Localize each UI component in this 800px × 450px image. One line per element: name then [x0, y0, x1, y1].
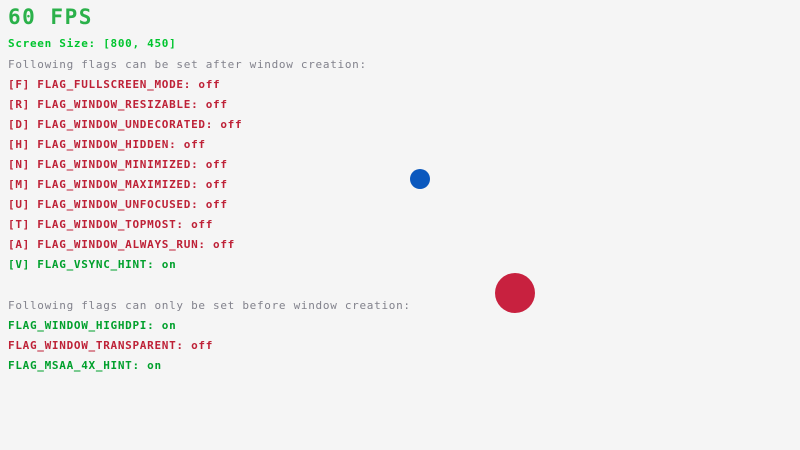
flag-row-window-maximized[interactable]: [M] FLAG_WINDOW_MAXIMIZED: off [8, 179, 228, 190]
fps-counter: 60 FPS [8, 7, 93, 28]
creation-flags-header: Following flags can only be set before w… [8, 300, 411, 311]
flag-row-window-unfocused[interactable]: [U] FLAG_WINDOW_UNFOCUSED: off [8, 199, 228, 210]
flag-row-window-resizable[interactable]: [R] FLAG_WINDOW_RESIZABLE: off [8, 99, 228, 110]
flag-row-window-highdpi: FLAG_WINDOW_HIGHDPI: on [8, 320, 176, 331]
screen-size-label: Screen Size: [800, 450] [8, 38, 176, 49]
runtime-flags-header: Following flags can be set after window … [8, 59, 367, 70]
flag-row-window-minimized[interactable]: [N] FLAG_WINDOW_MINIMIZED: off [8, 159, 228, 170]
flag-row-window-always-run[interactable]: [A] FLAG_WINDOW_ALWAYS_RUN: off [8, 239, 235, 250]
hud-overlay: 60 FPS Screen Size: [800, 450] Following… [0, 0, 800, 450]
app-window: 60 FPS Screen Size: [800, 450] Following… [0, 0, 800, 450]
flag-row-msaa-4x-hint: FLAG_MSAA_4X_HINT: on [8, 360, 162, 371]
flag-row-window-topmost[interactable]: [T] FLAG_WINDOW_TOPMOST: off [8, 219, 213, 230]
flag-row-window-undecorated[interactable]: [D] FLAG_WINDOW_UNDECORATED: off [8, 119, 242, 130]
flag-row-window-transparent: FLAG_WINDOW_TRANSPARENT: off [8, 340, 213, 351]
flag-row-fullscreen-mode[interactable]: [F] FLAG_FULLSCREEN_MODE: off [8, 79, 220, 90]
flag-row-vsync-hint[interactable]: [V] FLAG_VSYNC_HINT: on [8, 259, 176, 270]
flag-row-window-hidden[interactable]: [H] FLAG_WINDOW_HIDDEN: off [8, 139, 206, 150]
